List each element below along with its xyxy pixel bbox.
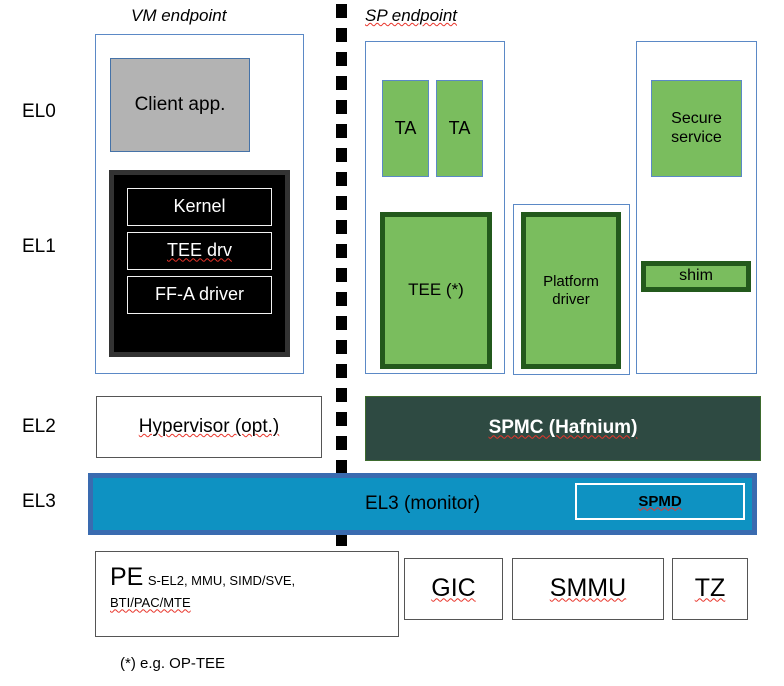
label-el3: EL3 <box>22 491 56 513</box>
divider-dash <box>336 292 347 306</box>
smmu-box[interactable]: SMMU <box>512 558 664 620</box>
kernel-box[interactable]: Kernel <box>127 188 272 226</box>
tee-box[interactable]: TEE (*) <box>380 212 492 369</box>
shim-label: shim <box>679 267 713 286</box>
ffa-driver-box[interactable]: FF-A driver <box>127 276 272 314</box>
pe-title: PE <box>110 563 143 591</box>
divider-dash <box>336 388 347 402</box>
divider-dash <box>336 28 347 42</box>
divider-dash <box>336 148 347 162</box>
normal-world-kernel-stack: Kernel TEE drv FF-A driver <box>109 170 290 357</box>
trusted-app-label: TA <box>395 118 417 139</box>
client-app-box[interactable]: Client app. <box>110 58 250 152</box>
pe-detail-line1: S-EL2, MMU, SIMD/SVE, <box>148 573 295 588</box>
divider-dash <box>336 436 347 450</box>
divider-dash <box>336 100 347 114</box>
divider-dash <box>336 124 347 138</box>
secure-service-label-line1: Secure <box>671 110 722 129</box>
label-el1: EL1 <box>22 236 56 258</box>
divider-dash <box>336 244 347 258</box>
divider-dash <box>336 52 347 66</box>
tee-driver-label: TEE drv <box>167 240 232 261</box>
smmu-label: SMMU <box>550 574 626 604</box>
tz-box[interactable]: TZ <box>672 558 748 620</box>
divider-dash <box>336 268 347 282</box>
footnote: (*) e.g. OP-TEE <box>120 655 225 672</box>
gic-label: GIC <box>431 574 475 604</box>
hypervisor-box[interactable]: Hypervisor (opt.) <box>96 396 322 458</box>
platform-driver-box[interactable]: Platform driver <box>521 212 621 369</box>
secure-service-box[interactable]: Secure service <box>651 80 742 177</box>
divider-dash <box>336 220 347 234</box>
divider-dash <box>336 196 347 210</box>
trusted-app-box-2[interactable]: TA <box>436 80 483 177</box>
divider-dash <box>336 76 347 90</box>
trusted-app-box-1[interactable]: TA <box>382 80 429 177</box>
label-el2: EL2 <box>22 416 56 438</box>
tee-label: TEE (*) <box>408 280 464 300</box>
ffa-driver-label: FF-A driver <box>155 284 244 305</box>
el3-monitor-label: EL3 (monitor) <box>365 493 480 515</box>
gic-box[interactable]: GIC <box>404 558 503 620</box>
divider-dash <box>336 460 347 474</box>
spmd-label: SPMD <box>638 493 681 511</box>
secure-service-label-line2: service <box>671 129 722 148</box>
pe-detail-line2: BTI/PAC/MTE <box>110 595 398 611</box>
tz-label: TZ <box>695 574 726 604</box>
divider-dash <box>336 172 347 186</box>
shim-box[interactable]: shim <box>641 261 751 292</box>
label-el0: EL0 <box>22 101 56 123</box>
divider-dash <box>336 340 347 354</box>
divider-dash <box>336 412 347 426</box>
pe-box[interactable]: PE S-EL2, MMU, SIMD/SVE, BTI/PAC/MTE <box>95 551 399 637</box>
header-sp-endpoint: SP endpoint <box>365 6 457 26</box>
client-app-label: Client app. <box>135 94 226 116</box>
spmc-box[interactable]: SPMC (Hafnium) <box>365 396 761 461</box>
platform-driver-label-line2: driver <box>543 291 599 309</box>
divider-dash <box>336 316 347 330</box>
hypervisor-label: Hypervisor (opt.) <box>139 416 279 438</box>
divider-dash <box>336 364 347 378</box>
kernel-label: Kernel <box>173 196 225 217</box>
spmd-box[interactable]: SPMD <box>575 483 745 520</box>
platform-driver-label-line1: Platform <box>543 273 599 291</box>
architecture-diagram: VM endpoint SP endpoint EL0 EL1 EL2 EL3 <box>0 0 784 686</box>
spmc-label: SPMC (Hafnium) <box>489 417 638 439</box>
trusted-app-label: TA <box>449 118 471 139</box>
divider-dash <box>336 4 347 18</box>
header-vm-endpoint: VM endpoint <box>131 6 226 26</box>
tee-driver-box[interactable]: TEE drv <box>127 232 272 270</box>
